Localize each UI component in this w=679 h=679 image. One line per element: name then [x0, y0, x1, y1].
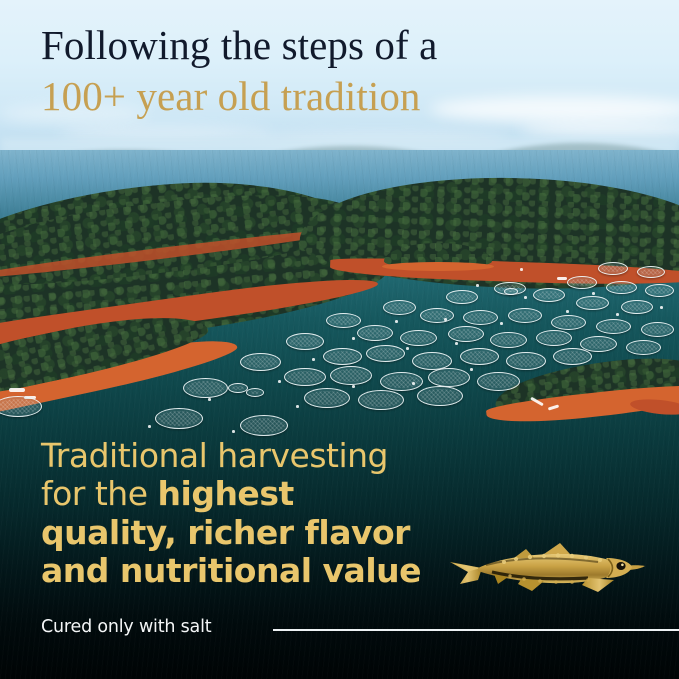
promo-line-2: for the highest	[41, 475, 471, 513]
small-island-top-shore	[382, 262, 494, 271]
top-headline: Following the steps of a 100+ year old t…	[41, 24, 641, 119]
boat	[557, 277, 567, 280]
product-banner: Following the steps of a 100+ year old t…	[0, 0, 679, 679]
promo-line-2-bold: highest	[158, 474, 294, 513]
headline-line-2: 100+ year old tradition	[41, 75, 641, 119]
promo-line-3-bold: quality, richer flavor	[41, 513, 410, 552]
promo-line-1: Traditional harvesting	[41, 437, 471, 475]
promo-line-2-regular: for the	[41, 474, 158, 513]
promo-line-4: and nutritional value	[41, 552, 471, 590]
headline-line-1: Following the steps of a	[41, 24, 641, 68]
promo-line-4-bold: and nutritional value	[41, 551, 421, 590]
promo-text-block: Traditional harvesting for the highest q…	[41, 437, 471, 591]
boat	[9, 388, 25, 392]
tagline-divider-rule	[273, 629, 679, 631]
promo-line-3: quality, richer flavor	[41, 514, 471, 552]
sturgeon-fish-icon	[448, 538, 646, 600]
tagline: Cured only with salt	[41, 617, 211, 637]
